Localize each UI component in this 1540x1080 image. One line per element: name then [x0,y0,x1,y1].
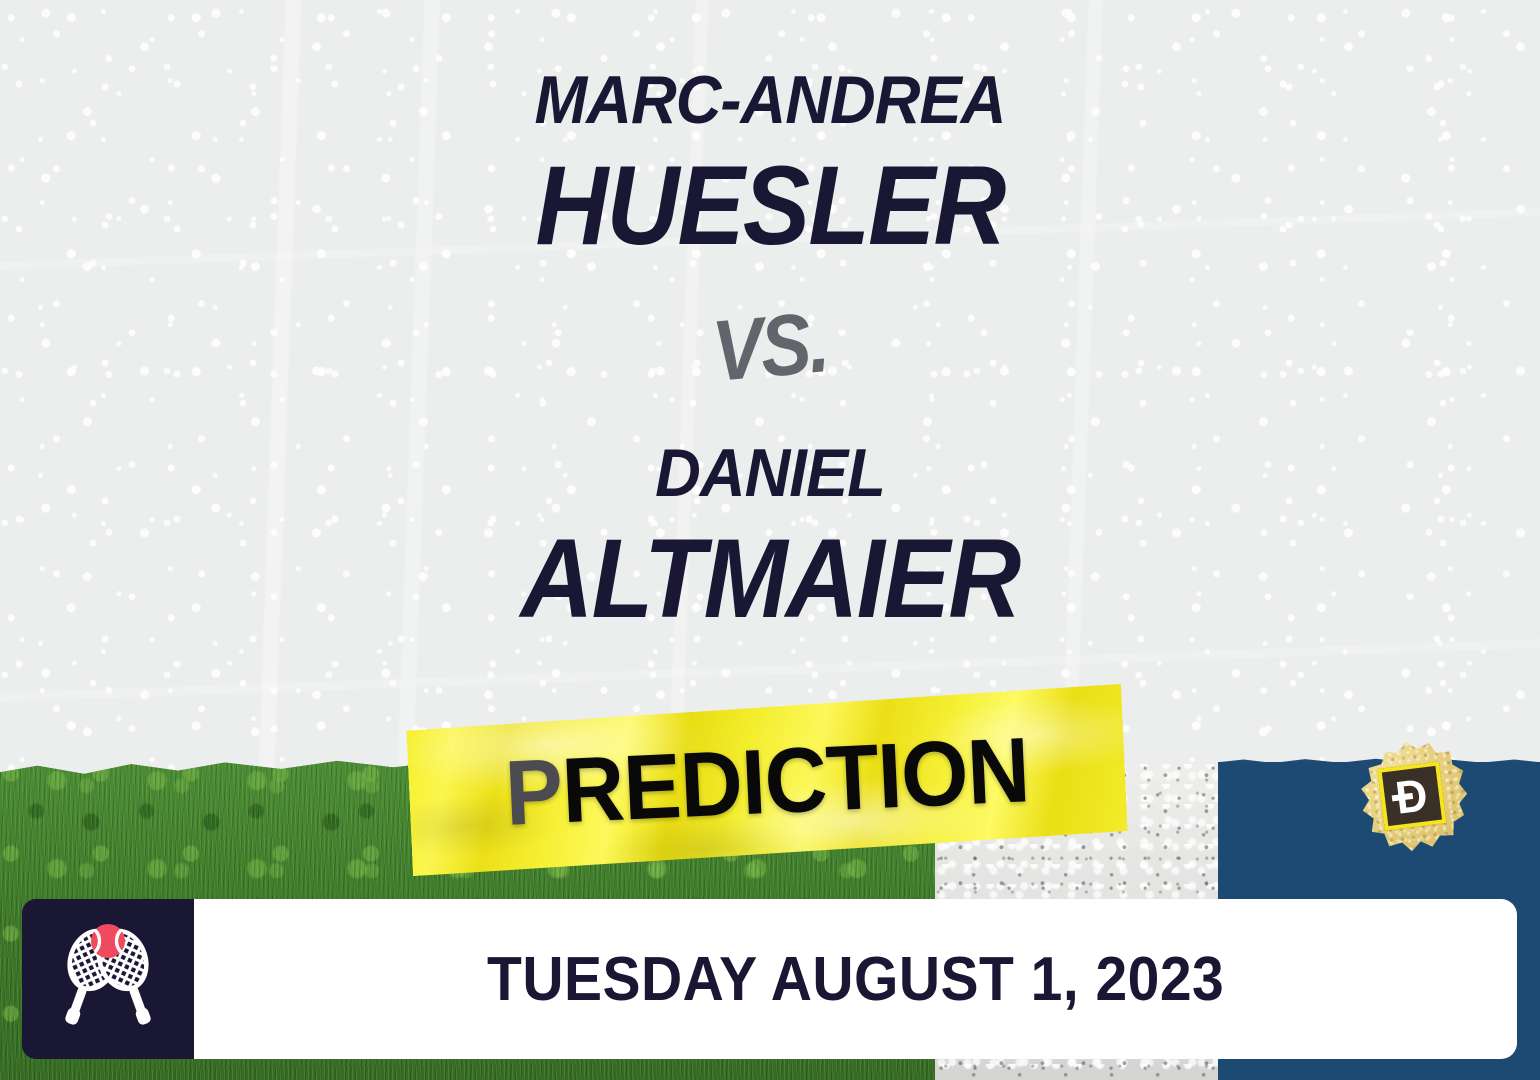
match-date: TUESDAY AUGUST 1, 2023 [487,944,1224,1015]
player-one-last-name: HUESLER [77,150,1463,262]
versus-separator: VS. [709,293,831,402]
crossed-tennis-rackets-icon [48,918,168,1040]
badge-logo-square: D [1377,761,1446,830]
date-panel: TUESDAY AUGUST 1, 2023 [194,899,1517,1059]
banner-label: PREDICTION [427,687,1107,877]
player-two-last-name: ALTMAIER [77,523,1463,635]
badge-letter-d: D [1393,771,1430,821]
prediction-banner: PREDICTION [406,684,1129,876]
banner-label-rest: REDICTION [560,718,1031,844]
brand-badge: D [1351,736,1474,859]
banner-label-lead: P [503,739,564,846]
player-two-first-name: DANIEL [54,439,1486,507]
tennis-icon-box [22,899,194,1059]
matchup-headline: MARC-ANDREA HUESLER VS. DANIEL ALTMAIER [0,0,1540,635]
player-one-first-name: MARC-ANDREA [54,66,1486,134]
tennis-ball-icon [91,924,125,958]
badge-letter-crossbar [1392,793,1413,802]
date-bar: TUESDAY AUGUST 1, 2023 [22,899,1517,1059]
prediction-graphic: MARC-ANDREA HUESLER VS. DANIEL ALTMAIER … [0,0,1540,1080]
